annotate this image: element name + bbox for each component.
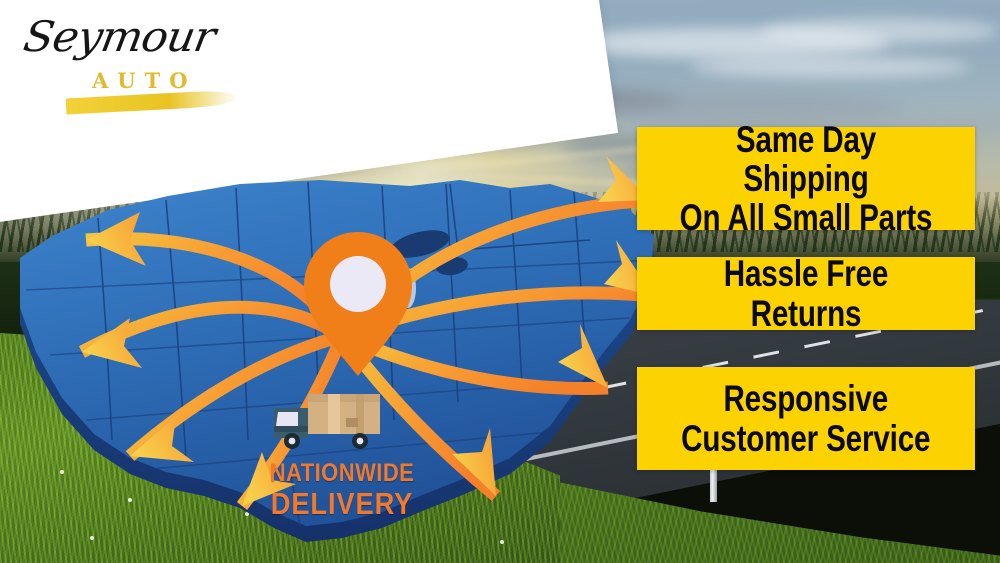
feature-banner-hassle-free-returns[interactable]: Hassle Free Returns bbox=[637, 257, 975, 330]
feature-banner-text: Same Day Shipping On All Small Parts bbox=[671, 120, 941, 238]
nationwide-line: NATIONWIDE bbox=[263, 461, 421, 486]
brand-name: Seymour bbox=[20, 12, 219, 61]
brand-logo[interactable]: Seymour AUTO bbox=[20, 14, 250, 109]
feature-banner-responsive-customer-service[interactable]: Responsive Customer Service bbox=[637, 367, 975, 470]
feature-banner-text: Hassle Free Returns bbox=[671, 254, 941, 332]
usa-delivery-map: NATIONWIDE DELIVERY bbox=[0, 140, 690, 560]
delivery-truck-icon bbox=[268, 386, 388, 458]
feature-banner-text: Responsive Customer Service bbox=[681, 379, 930, 457]
brand-subtitle: AUTO bbox=[92, 68, 197, 93]
nationwide-delivery-label: NATIONWIDE DELIVERY bbox=[252, 461, 432, 519]
feature-banner-same-day-shipping[interactable]: Same Day Shipping On All Small Parts bbox=[637, 127, 975, 230]
delivery-line: DELIVERY bbox=[263, 488, 421, 519]
promo-banner-canvas: Seymour AUTO bbox=[0, 0, 1000, 563]
